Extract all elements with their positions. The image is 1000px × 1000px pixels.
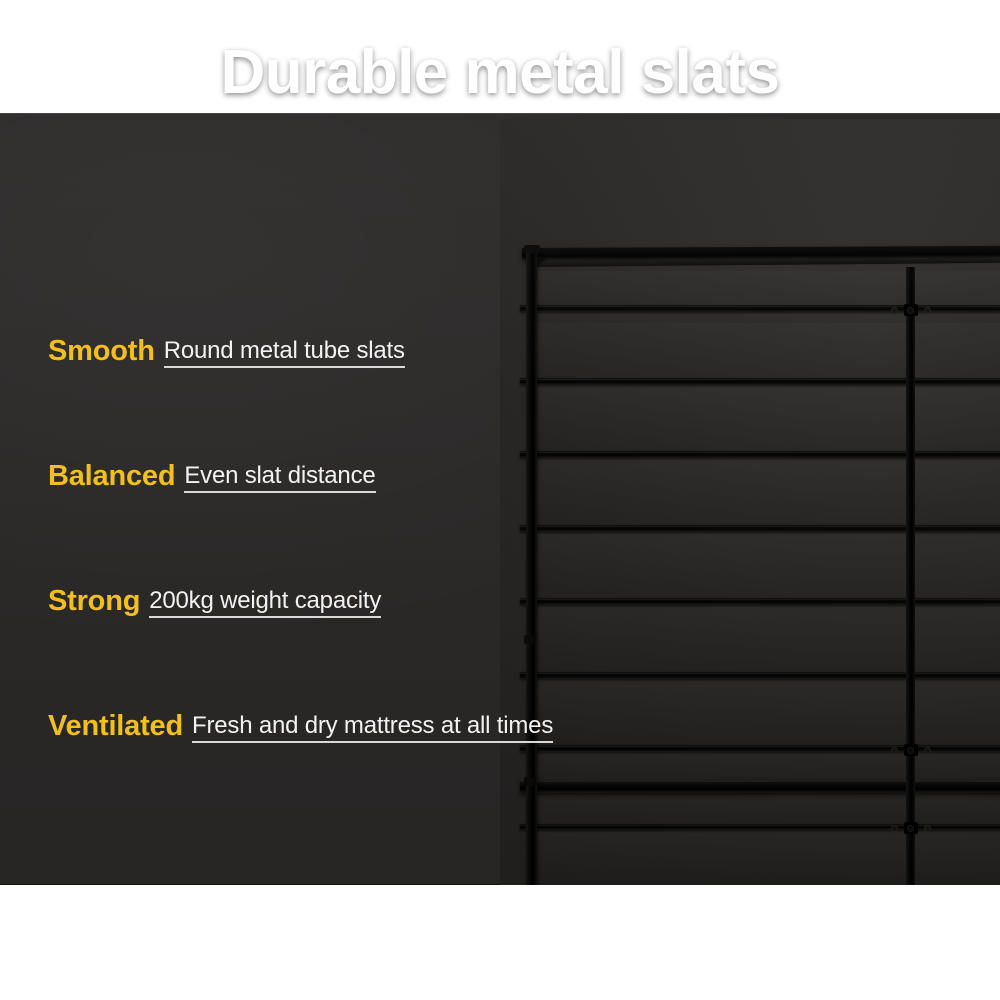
feature-label: Balanced xyxy=(48,462,175,493)
metal-slat xyxy=(520,378,1000,385)
slat-gap-band xyxy=(534,678,1000,748)
bolt-icon xyxy=(924,747,931,754)
feature-row-balanced: Balanced Even slat distance xyxy=(48,368,568,493)
frame-fitting xyxy=(524,777,534,786)
slat-gap-band xyxy=(534,531,1000,601)
slat-gap-band xyxy=(534,605,1000,675)
page-title: Durable metal slats xyxy=(0,42,1000,104)
frame-center-support-rail xyxy=(906,267,915,885)
feature-list: Smooth Round metal tube slats Balanced E… xyxy=(48,243,568,743)
metal-slat xyxy=(520,672,1000,679)
feature-description-underline: Even slat distance xyxy=(184,464,375,493)
product-feature-banner: Durable metal slats Smooth Round metal t… xyxy=(0,0,1000,1000)
metal-slat xyxy=(520,525,1000,532)
feature-description-underline: Round metal tube slats xyxy=(164,339,405,368)
feature-description: 200kg weight capacity xyxy=(149,587,381,614)
metal-slat xyxy=(520,598,1000,605)
bolt-icon xyxy=(907,307,914,314)
metal-slat xyxy=(520,451,1000,458)
slat-gap-band xyxy=(534,311,1000,381)
feature-label: Smooth xyxy=(48,337,155,368)
feature-description-underline: 200kg weight capacity xyxy=(149,589,381,618)
slat-bracket xyxy=(890,304,932,316)
panel-top-divider xyxy=(0,113,1000,114)
slat-gap-band xyxy=(534,831,1000,885)
slat-gap-band xyxy=(534,384,1000,454)
bolt-icon xyxy=(891,825,898,832)
feature-description-underline: Fresh and dry mattress at all times xyxy=(192,714,553,743)
feature-description: Fresh and dry mattress at all times xyxy=(192,712,553,739)
bolt-icon xyxy=(924,307,931,314)
feature-description: Round metal tube slats xyxy=(164,337,405,364)
frame-bottom-rail xyxy=(520,782,1000,793)
bolt-icon xyxy=(891,747,898,754)
feature-label: Strong xyxy=(48,587,140,618)
bolt-icon xyxy=(891,307,898,314)
feature-description: Even slat distance xyxy=(184,462,375,489)
slat-bracket xyxy=(890,744,932,756)
feature-row-strong: Strong 200kg weight capacity xyxy=(48,493,568,618)
feature-row-ventilated: Ventilated Fresh and dry mattress at all… xyxy=(48,618,568,743)
slat-gap-band xyxy=(534,458,1000,528)
bed-slat-photo xyxy=(500,119,1000,885)
photo-vignette xyxy=(500,119,1000,885)
slat-bracket xyxy=(890,822,932,834)
feature-row-smooth: Smooth Round metal tube slats xyxy=(48,243,568,368)
bolt-icon xyxy=(907,825,914,832)
bolt-icon xyxy=(907,747,914,754)
bolt-icon xyxy=(924,825,931,832)
feature-label: Ventilated xyxy=(48,712,183,743)
